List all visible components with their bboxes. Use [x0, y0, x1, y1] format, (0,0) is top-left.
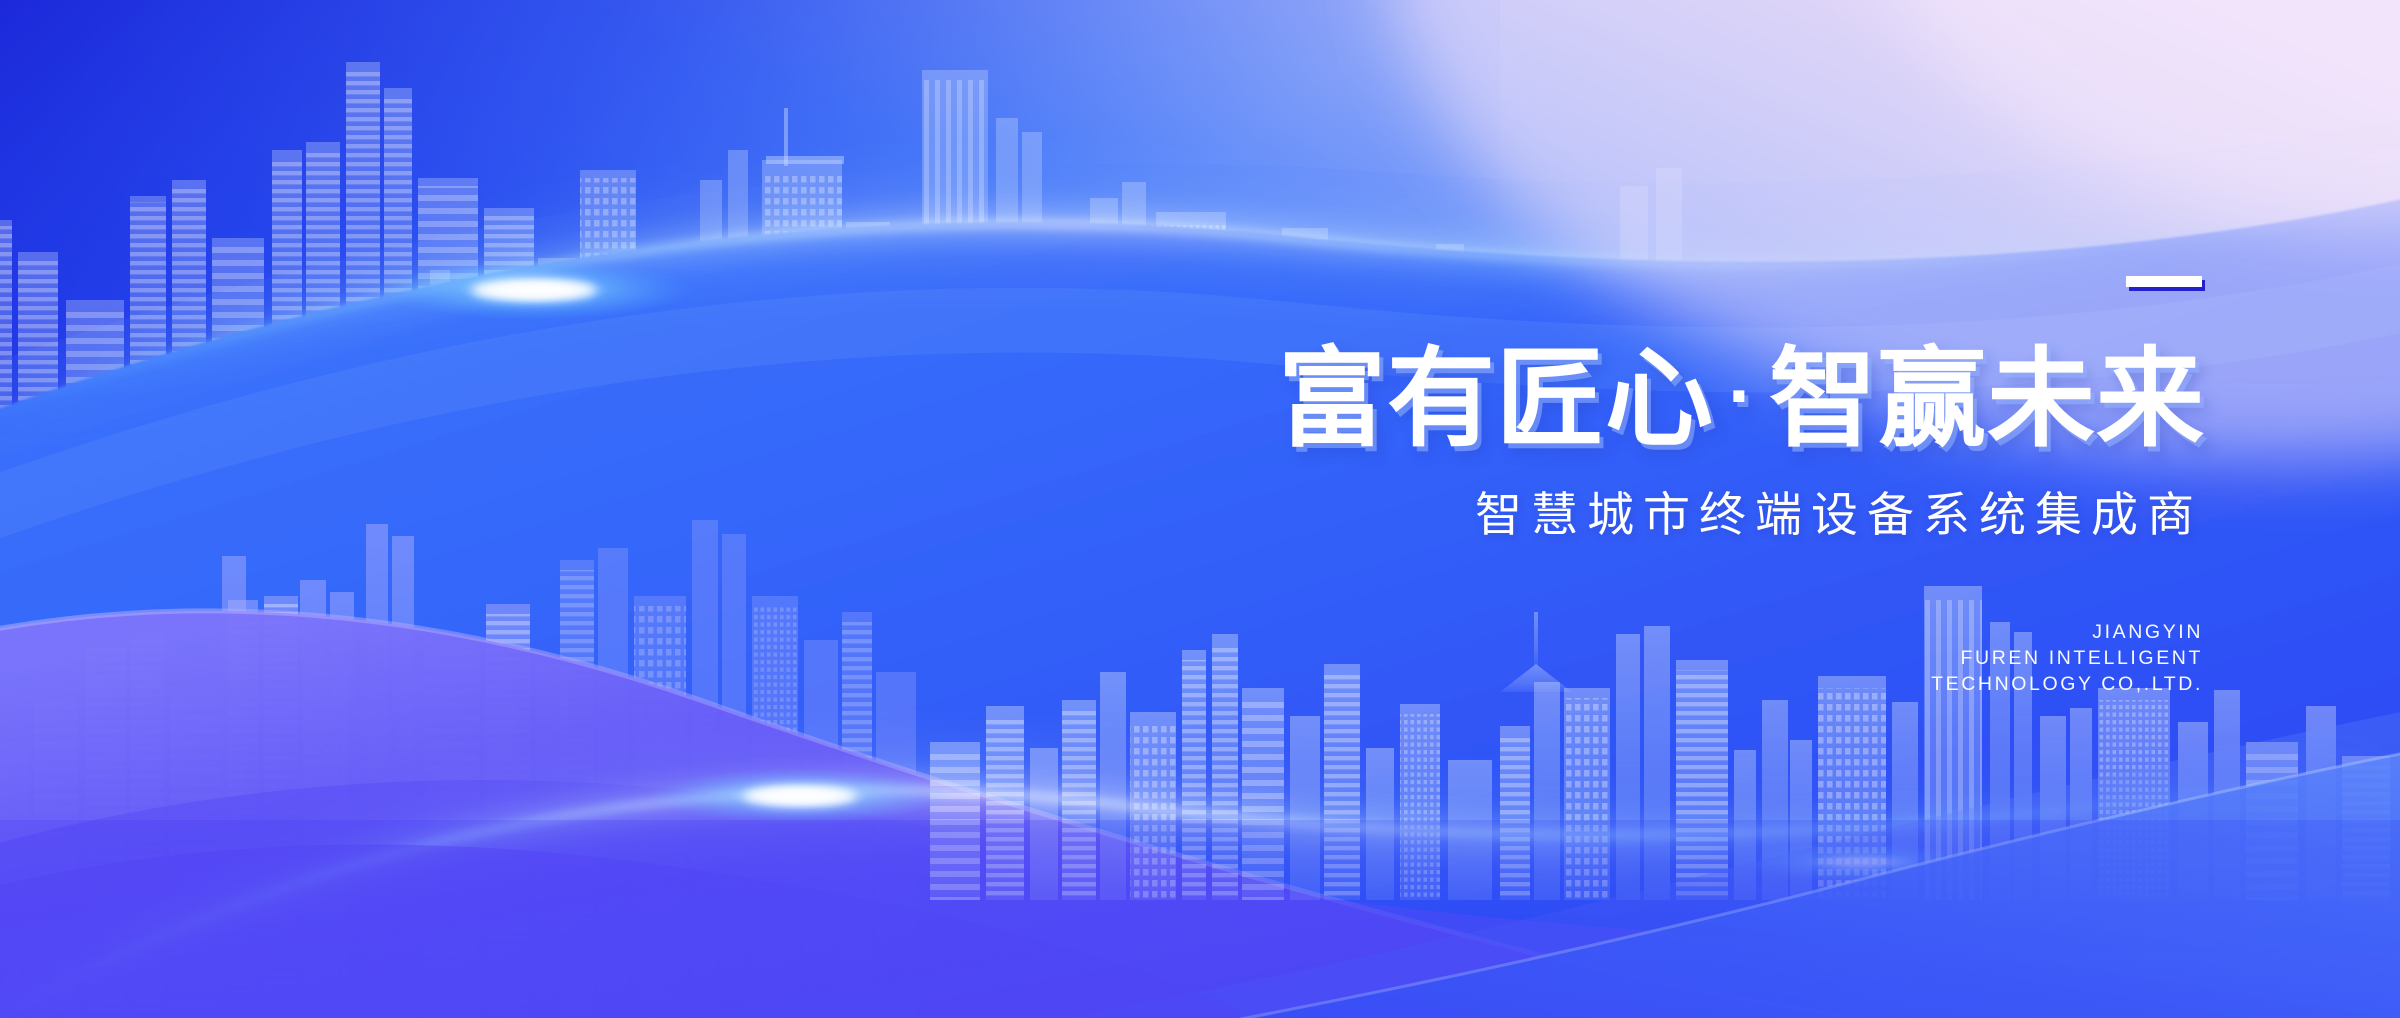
bottom-tint	[0, 820, 2400, 1018]
banner-canvas: 富有匠心·智赢未来 智慧城市终端设备系统集成商 JIANGYIN FUREN I…	[0, 0, 2400, 1018]
background-artwork	[0, 0, 2400, 1018]
